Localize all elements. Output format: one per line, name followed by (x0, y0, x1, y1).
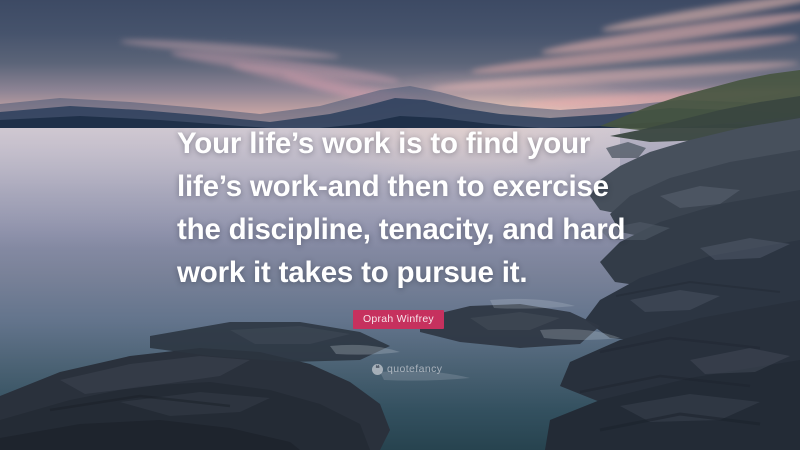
quote-poster: Your life’s work is to find your life’s … (0, 0, 800, 450)
quote-text: Your life’s work is to find your life’s … (177, 122, 647, 294)
watermark[interactable]: ❝ quotefancy (372, 363, 442, 375)
author-badge: Oprah Winfrey (353, 310, 444, 329)
quote-mark-icon: ❝ (372, 364, 383, 375)
watermark-label: quotefancy (387, 363, 442, 375)
